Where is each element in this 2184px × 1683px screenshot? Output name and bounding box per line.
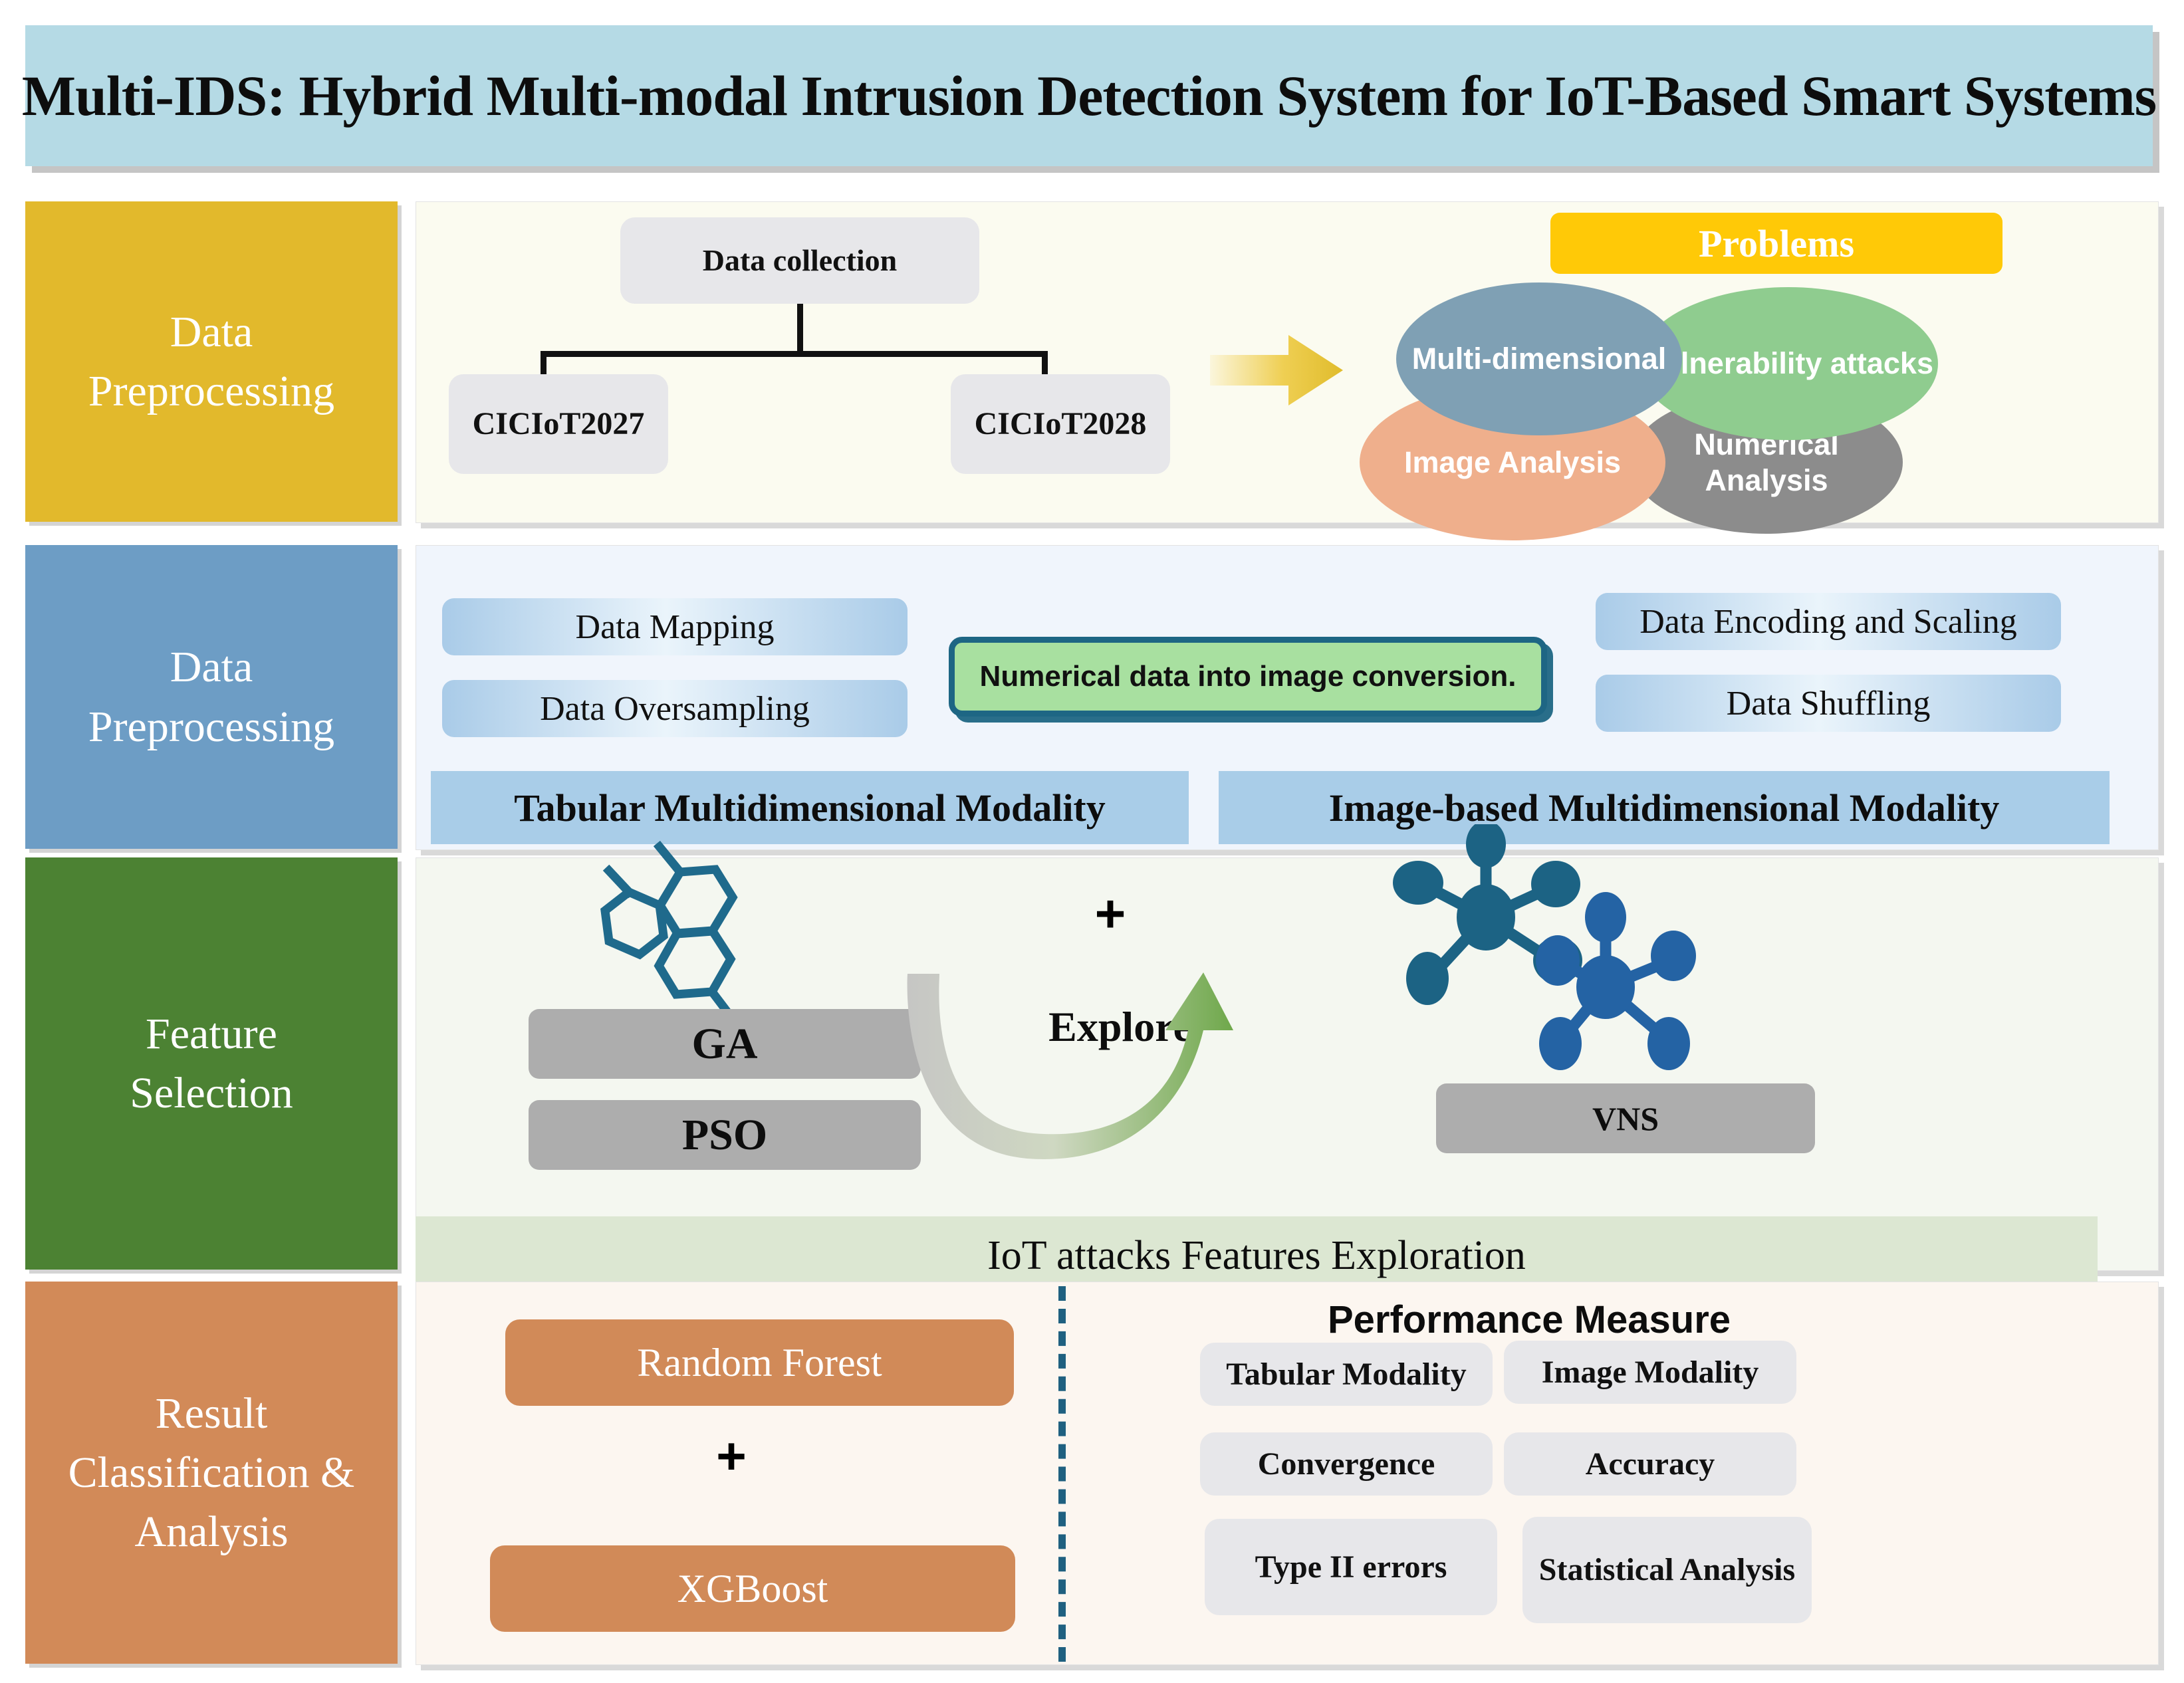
tree-connector-vertical	[797, 304, 803, 356]
curved-up-arrow-icon	[901, 967, 1293, 1233]
tree-connector-left-drop	[541, 351, 546, 378]
stage-2-line2: Preprocessing	[88, 697, 334, 756]
tree-connector-horizontal	[541, 351, 1048, 357]
problem-label-0: Multi-dimensional	[1412, 341, 1667, 377]
preprocess-step-data-mapping[interactable]: Data Mapping	[442, 598, 908, 655]
performance-item-image-modality[interactable]: Image Modality	[1504, 1341, 1796, 1404]
dataset-node-right[interactable]: CICIoT2028	[951, 374, 1170, 474]
problem-ellipse-vulnerability-attacks: Vulnerability attacks	[1639, 287, 1938, 440]
problem-label-1: Vulnerability attacks	[1643, 346, 1933, 382]
stage-3-line1: Feature	[146, 1004, 277, 1064]
performance-item-statistical-analysis[interactable]: Statistical Analysis	[1522, 1517, 1812, 1623]
stage-1-line2: Preprocessing	[88, 362, 334, 421]
numerical-to-image-conversion-box: Numerical data into image conversion.	[949, 637, 1547, 717]
preprocess-step-data-encoding-and-scaling[interactable]: Data Encoding and Scaling	[1596, 593, 2061, 650]
modality-bar-tabular: Tabular Multidimensional Modality	[431, 771, 1189, 844]
hexagon-molecule-icon	[585, 831, 804, 1024]
algorithm-box-vns[interactable]: VNS	[1436, 1083, 1815, 1153]
classifier-box-random-forest[interactable]: Random Forest	[505, 1319, 1014, 1406]
classifier-box-xgboost[interactable]: XGBoost	[490, 1545, 1015, 1632]
problem-label-2: Image Analysis	[1404, 445, 1621, 481]
data-collection-node[interactable]: Data collection	[620, 217, 979, 304]
stage-1-line1: Data	[170, 302, 253, 362]
stage-label-result-classification: Result Classification & Analysis	[25, 1282, 398, 1664]
plus-symbol-classifiers: +	[705, 1429, 758, 1482]
dataset-node-left[interactable]: CICIoT2027	[449, 374, 668, 474]
problems-header: Problems	[1550, 213, 2002, 274]
algorithm-box-ga[interactable]: GA	[529, 1009, 921, 1079]
stage-4-line3: Analysis	[135, 1502, 289, 1561]
dashed-vertical-divider	[1058, 1286, 1066, 1662]
page-title: Multi-IDS: Hybrid Multi-modal Intrusion …	[22, 62, 2156, 129]
stage-3-line2: Selection	[130, 1064, 293, 1123]
performance-item-type-ii-errors[interactable]: Type II errors	[1205, 1519, 1497, 1615]
problem-ellipse-multi-dimensional: Multi-dimensional	[1396, 282, 1682, 435]
stage-label-feature-selection: Feature Selection	[25, 857, 398, 1270]
stage-label-data-preprocessing-1: Data Preprocessing	[25, 201, 398, 522]
performance-measure-title: Performance Measure	[1197, 1293, 1862, 1346]
stage-4-line2: Classification &	[68, 1443, 355, 1502]
performance-item-convergence[interactable]: Convergence	[1200, 1432, 1493, 1496]
stage-4-line1: Result	[156, 1384, 268, 1443]
performance-item-tabular-modality[interactable]: Tabular Modality	[1200, 1343, 1493, 1406]
stage-2-line1: Data	[170, 637, 253, 697]
plus-symbol-feature-selection: +	[1084, 887, 1137, 941]
stage-label-data-preprocessing-2: Data Preprocessing	[25, 545, 398, 849]
tree-connector-right-drop	[1042, 351, 1048, 378]
preprocess-step-data-shuffling[interactable]: Data Shuffling	[1596, 675, 2061, 732]
performance-item-accuracy[interactable]: Accuracy	[1504, 1432, 1796, 1496]
network-nodes-icon	[1386, 824, 1759, 1090]
right-arrow-icon	[1210, 327, 1363, 413]
preprocess-step-data-oversampling[interactable]: Data Oversampling	[442, 680, 908, 737]
page-title-banner: Multi-IDS: Hybrid Multi-modal Intrusion …	[25, 25, 2153, 166]
algorithm-box-pso[interactable]: PSO	[529, 1100, 921, 1170]
